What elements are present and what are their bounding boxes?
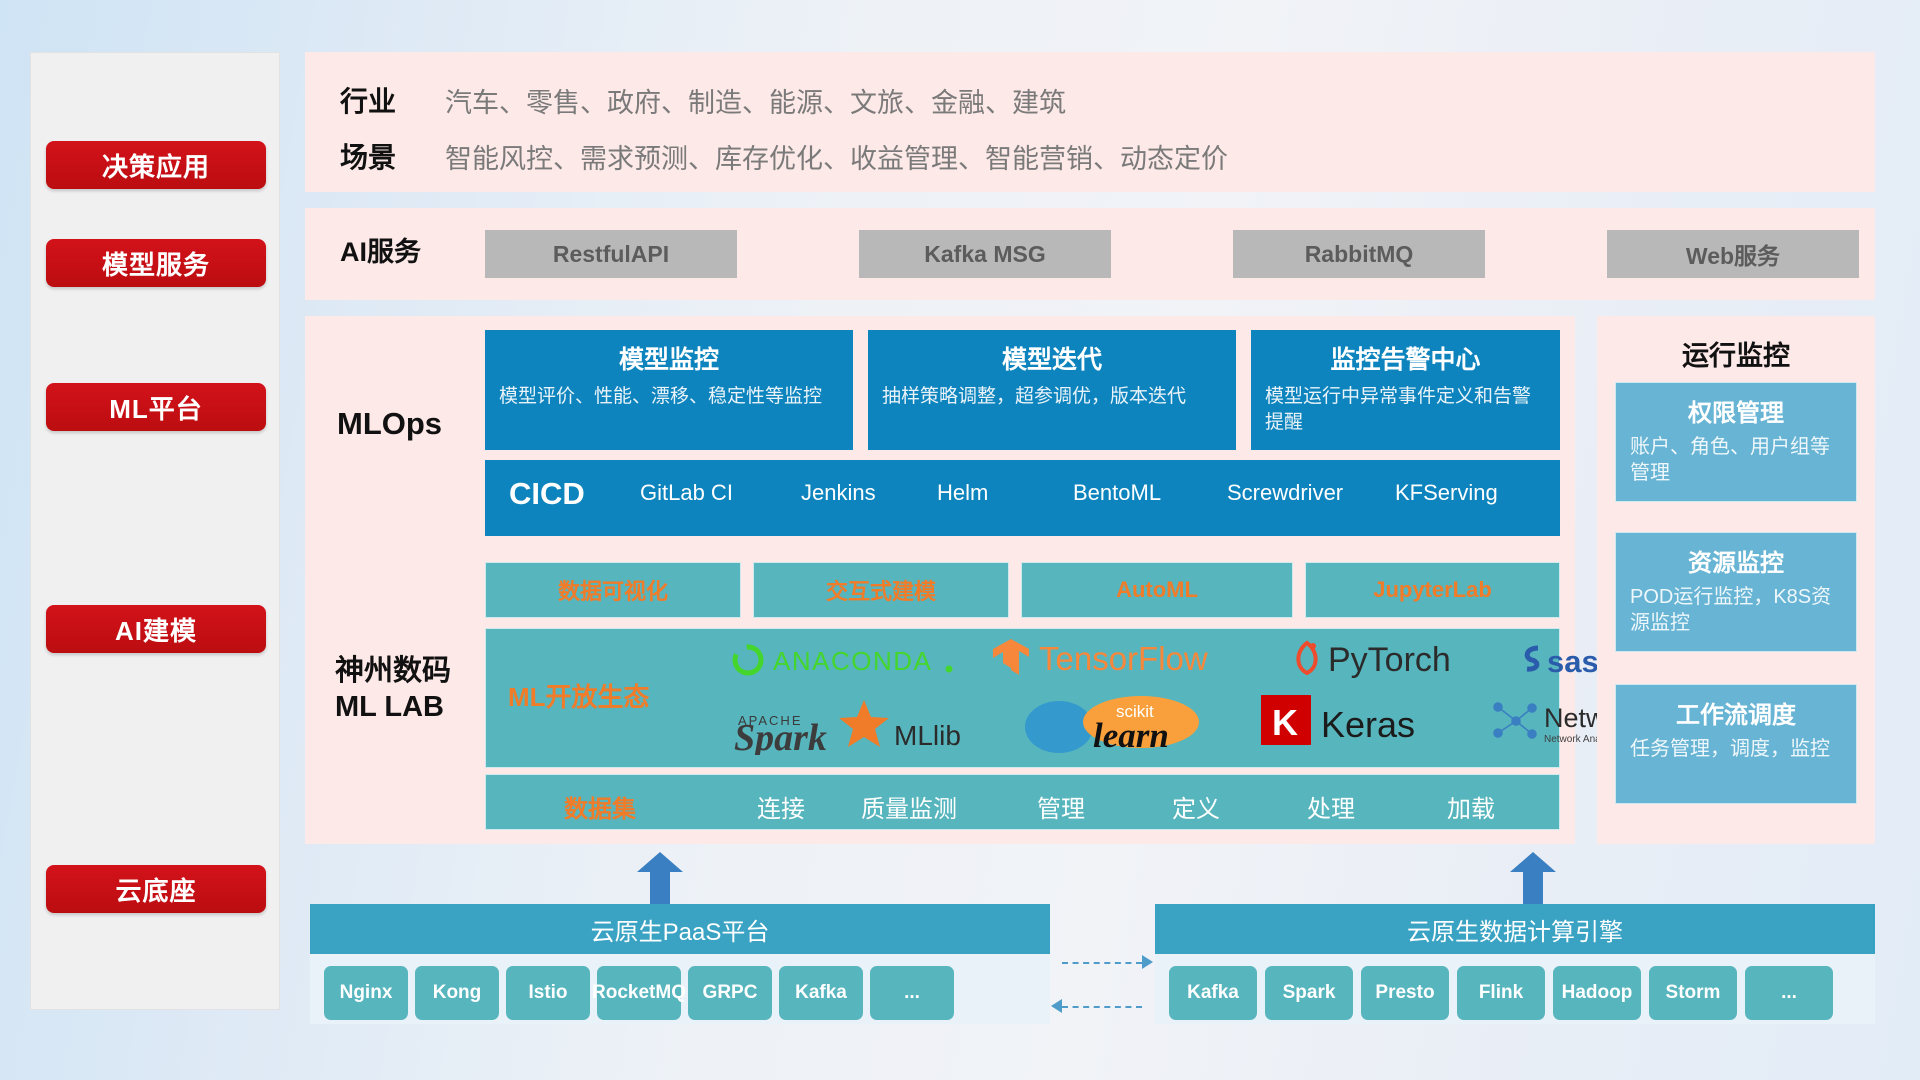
ai-service-web[interactable]: Web服务 [1607,230,1859,278]
up-arrow-right [1510,852,1556,904]
card-title: 工作流调度 [1630,695,1842,730]
sidebar-item-decision-app[interactable]: 决策应用 [46,141,266,189]
ml-lab-label-line2: ML LAB [335,689,451,725]
sidebar-item-ml-platform[interactable]: ML平台 [46,383,266,431]
cicd-item-helm[interactable]: Helm [937,480,1045,505]
layer-rail: 决策应用 模型服务 ML平台 AI建模 云底座 [30,52,280,1010]
cicd-item-bentoml[interactable]: BentoML [1073,480,1181,505]
apache-spark-mllib-logo: APACHE Spark MLlib [734,695,974,755]
mlops-band: MLOps 模型监控 模型评价、性能、漂移、稳定性等监控 模型迭代 抽样策略调整… [305,316,1575,556]
cicd-item-kfserving[interactable]: KFServing [1395,480,1503,505]
connector-right-arrowhead [1142,955,1153,969]
chip-rocketmq[interactable]: RocketMQ [597,966,681,1020]
industry-label: 行业 [340,80,396,120]
dataset-item-process[interactable]: 处理 [1276,789,1386,824]
chip-presto[interactable]: Presto [1361,966,1449,1020]
dataset-item-connect[interactable]: 连接 [726,789,836,824]
chip-spark[interactable]: Spark [1265,966,1353,1020]
chip-storm[interactable]: Storm [1649,966,1737,1020]
sidebar-item-label: AI建模 [115,611,197,648]
scene-list: 智能风控、需求预测、库存优化、收益管理、智能营销、动态定价 [445,137,1228,176]
cicd-label: CICD [509,476,585,512]
card-title: 权限管理 [1630,393,1842,428]
scikit-learn-logo: scikit learn [1021,691,1251,753]
svg-text:Spark: Spark [734,717,827,755]
svg-text:PyTorch: PyTorch [1328,641,1451,679]
mlops-card-model-iteration[interactable]: 模型迭代 抽样策略调整，超参调优，版本迭代 [868,330,1236,450]
svg-text:Keras: Keras [1321,704,1415,745]
monitoring-title: 运行监控 [1597,334,1875,373]
ai-service-kafka-msg[interactable]: Kafka MSG [859,230,1111,278]
ml-ecosystem-label: ML开放生态 [508,677,650,714]
chip-flink[interactable]: Flink [1457,966,1545,1020]
tool-data-visualization[interactable]: 数据可视化 [485,562,741,618]
dataset-item-load[interactable]: 加载 [1416,789,1526,824]
sidebar-item-label: 决策应用 [102,147,210,184]
chip-kong[interactable]: Kong [415,966,499,1020]
cicd-item-screwdriver[interactable]: Screwdriver [1227,480,1335,505]
anaconda-logo: ANACONDA [731,643,956,677]
svg-text:TensorFlow: TensorFlow [1039,640,1208,677]
chip-hadoop[interactable]: Hadoop [1553,966,1641,1020]
card-desc: POD运行监控，K8S资源监控 [1630,584,1842,636]
connector-left [1062,1006,1142,1008]
up-arrow-left [637,852,683,904]
tool-automl[interactable]: AutoML [1021,562,1293,618]
industry-list: 汽车、零售、政府、制造、能源、文旅、金融、建筑 [445,81,1066,120]
mlops-card-alert-center[interactable]: 监控告警中心 模型运行中异常事件定义和告警提醒 [1251,330,1560,450]
chip-kafka-r[interactable]: Kafka [1169,966,1257,1020]
tool-interactive-modeling[interactable]: 交互式建模 [753,562,1009,618]
chip-more-right[interactable]: ... [1745,966,1833,1020]
cicd-item-jenkins[interactable]: Jenkins [801,480,909,505]
cicd-item-gitlab-ci[interactable]: GitLab CI [640,480,748,505]
card-desc: 任务管理，调度，监控 [1630,736,1842,762]
svg-text:MLlib: MLlib [894,720,961,751]
dataset-item-quality[interactable]: 质量监测 [854,789,964,824]
monitoring-card-permission[interactable]: 权限管理 账户、角色、用户组等管理 [1615,382,1857,502]
sidebar-item-label: 云底座 [115,871,196,908]
sidebar-item-ai-modeling[interactable]: AI建模 [46,605,266,653]
monitoring-card-workflow[interactable]: 工作流调度 任务管理，调度，监控 [1615,684,1857,804]
dataset-label: 数据集 [564,789,636,824]
chip-grpc[interactable]: GRPC [688,966,772,1020]
scene-label: 场景 [340,136,396,176]
data-compute-engine-panel: 云原生数据计算引擎 Kafka Spark Presto Flink Hadoo… [1155,904,1875,1024]
paas-platform-title: 云原生PaaS平台 [310,904,1050,954]
card-title: 监控告警中心 [1265,340,1546,376]
svg-text:K: K [1272,702,1298,743]
card-desc: 模型运行中异常事件定义和告警提醒 [1265,384,1546,435]
ml-ecosystem-panel: ML开放生态 ANACONDA TensorFlow [485,628,1560,768]
cicd-row: CICD GitLab CI Jenkins Helm BentoML Scre… [485,460,1560,536]
card-title: 资源监控 [1630,543,1842,578]
chip-nginx[interactable]: Nginx [324,966,408,1020]
chip-more-left[interactable]: ... [870,966,954,1020]
svg-text:ANACONDA: ANACONDA [773,646,932,676]
architecture-diagram: 决策应用 模型服务 ML平台 AI建模 云底座 行业 汽车、零售、政府、制造、能… [0,0,1920,1080]
chip-istio[interactable]: Istio [506,966,590,1020]
card-title: 模型监控 [499,340,839,376]
sidebar-item-label: ML平台 [109,389,203,426]
ai-service-label: AI服务 [340,230,421,269]
keras-logo: K Keras [1261,693,1476,749]
chip-kafka[interactable]: Kafka [779,966,863,1020]
mlops-label: MLOps [337,406,442,442]
connector-left-arrowhead [1051,999,1062,1013]
monitoring-card-resource[interactable]: 资源监控 POD运行监控，K8S资源监控 [1615,532,1857,652]
card-desc: 账户、角色、用户组等管理 [1630,434,1842,486]
data-compute-engine-title: 云原生数据计算引擎 [1155,904,1875,954]
tensorflow-logo: TensorFlow [991,637,1266,679]
paas-platform-panel: 云原生PaaS平台 Nginx Kong Istio RocketMQ GRPC… [310,904,1050,1024]
card-desc: 模型评价、性能、漂移、稳定性等监控 [499,384,839,410]
ml-lab-label-line1: 神州数码 [335,653,451,689]
pytorch-logo: PyTorch [1286,637,1496,679]
runtime-monitoring-panel: 运行监控 权限管理 账户、角色、用户组等管理 资源监控 POD运行监控，K8S资… [1597,316,1875,844]
ai-service-band: AI服务 RestfulAPI Kafka MSG RabbitMQ Web服务 [305,208,1875,300]
card-desc: 抽样策略调整，超参调优，版本迭代 [882,384,1222,410]
industry-scene-band: 行业 汽车、零售、政府、制造、能源、文旅、金融、建筑 场景 智能风控、需求预测、… [305,52,1875,192]
ml-lab-label: 神州数码 ML LAB [335,653,451,726]
sidebar-item-model-service[interactable]: 模型服务 [46,239,266,287]
svg-text:sas: sas [1547,644,1599,677]
tool-jupyterlab[interactable]: JupyterLab [1305,562,1560,618]
sidebar-item-cloud-base[interactable]: 云底座 [46,865,266,913]
connector-right [1062,962,1142,964]
ml-lab-band: 神州数码 ML LAB 数据可视化 交互式建模 AutoML JupyterLa… [305,548,1575,844]
mlops-card-model-monitor[interactable]: 模型监控 模型评价、性能、漂移、稳定性等监控 [485,330,853,450]
card-title: 模型迭代 [882,340,1222,376]
svg-text:learn: learn [1093,716,1169,753]
ai-service-rabbitmq[interactable]: RabbitMQ [1233,230,1485,278]
sidebar-item-label: 模型服务 [102,245,210,282]
dataset-item-define[interactable]: 定义 [1141,789,1251,824]
dataset-item-manage[interactable]: 管理 [1006,789,1116,824]
ai-service-restfulapi[interactable]: RestfulAPI [485,230,737,278]
dataset-row: 数据集 连接 质量监测 管理 定义 处理 加载 [485,774,1560,830]
